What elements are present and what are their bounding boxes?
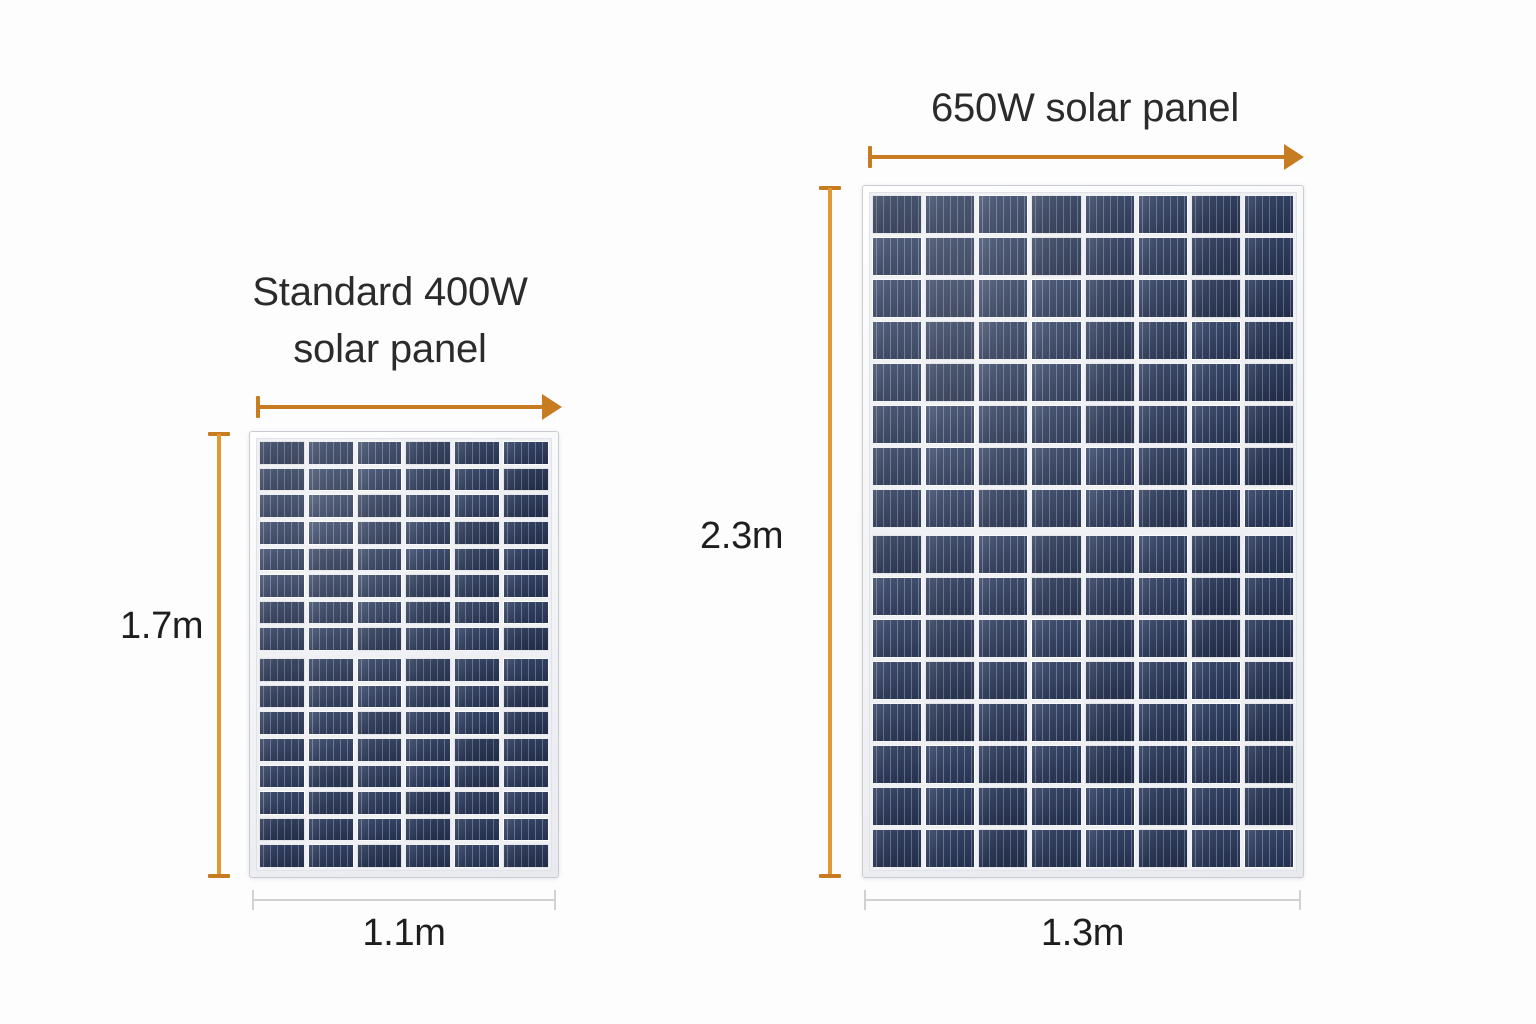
photovoltaic-cell <box>1244 661 1294 700</box>
photovoltaic-cell <box>357 711 403 735</box>
photovoltaic-cell <box>978 237 1028 276</box>
photovoltaic-cell <box>1138 195 1188 234</box>
photovoltaic-cell <box>259 548 305 572</box>
photovoltaic-cell <box>454 711 500 735</box>
photovoltaic-cell <box>1244 447 1294 486</box>
photovoltaic-cell <box>259 685 305 709</box>
photovoltaic-cell <box>454 601 500 625</box>
width-label-standard-400w: 1.1m <box>252 912 556 955</box>
photovoltaic-cell <box>925 321 975 360</box>
photovoltaic-cell <box>1031 321 1081 360</box>
photovoltaic-cell <box>1085 577 1135 616</box>
photovoltaic-cell <box>405 521 451 545</box>
photovoltaic-cell <box>1031 195 1081 234</box>
photovoltaic-cell <box>405 818 451 842</box>
photovoltaic-cell <box>1244 577 1294 616</box>
photovoltaic-cell <box>454 791 500 815</box>
photovoltaic-cell <box>454 468 500 492</box>
photovoltaic-cell <box>1138 787 1188 826</box>
photovoltaic-cell <box>1031 745 1081 784</box>
photovoltaic-cell <box>978 745 1028 784</box>
solar-panel-650w <box>862 185 1304 878</box>
photovoltaic-cell <box>872 363 922 402</box>
photovoltaic-cell <box>1031 363 1081 402</box>
photovoltaic-cell <box>925 279 975 318</box>
photovoltaic-cell <box>405 601 451 625</box>
photovoltaic-cell <box>1191 279 1241 318</box>
height-label-650w: 2.3m <box>700 515 783 558</box>
photovoltaic-cell <box>872 195 922 234</box>
photovoltaic-cell <box>308 494 354 518</box>
photovoltaic-cell <box>872 321 922 360</box>
photovoltaic-cell <box>872 787 922 826</box>
photovoltaic-cell <box>925 703 975 742</box>
photovoltaic-cell <box>405 765 451 789</box>
photovoltaic-cell <box>259 738 305 762</box>
photovoltaic-cell <box>503 738 549 762</box>
photovoltaic-cell <box>978 787 1028 826</box>
photovoltaic-cell <box>503 441 549 465</box>
photovoltaic-cell <box>357 601 403 625</box>
photovoltaic-cell <box>308 844 354 868</box>
photovoltaic-cell <box>1138 489 1188 528</box>
photovoltaic-cell <box>1244 489 1294 528</box>
height-label-standard-400w: 1.7m <box>120 605 203 648</box>
photovoltaic-cell <box>308 521 354 545</box>
photovoltaic-cell <box>259 791 305 815</box>
photovoltaic-cell <box>872 279 922 318</box>
photovoltaic-cell <box>308 627 354 651</box>
photovoltaic-cell <box>357 494 403 518</box>
photovoltaic-cell <box>357 791 403 815</box>
photovoltaic-cell <box>872 745 922 784</box>
photovoltaic-cell <box>357 627 403 651</box>
photovoltaic-cell <box>978 535 1028 574</box>
photovoltaic-cell <box>405 844 451 868</box>
photovoltaic-cell <box>1191 745 1241 784</box>
photovoltaic-cell <box>1191 661 1241 700</box>
photovoltaic-cell <box>925 195 975 234</box>
photovoltaic-cell <box>1244 619 1294 658</box>
photovoltaic-cell <box>1191 447 1241 486</box>
photovoltaic-cell <box>259 574 305 598</box>
photovoltaic-cell <box>1031 405 1081 444</box>
photovoltaic-cell <box>925 489 975 528</box>
photovoltaic-cell <box>1191 363 1241 402</box>
photovoltaic-cell <box>1191 787 1241 826</box>
photovoltaic-cell <box>1244 829 1294 868</box>
photovoltaic-cell <box>1191 405 1241 444</box>
photovoltaic-cell <box>308 711 354 735</box>
photovoltaic-cell <box>405 574 451 598</box>
photovoltaic-cell <box>1085 703 1135 742</box>
photovoltaic-cell <box>1191 829 1241 868</box>
height-rule-650w-icon <box>817 186 843 878</box>
photovoltaic-cell <box>503 658 549 682</box>
photovoltaic-cell <box>308 818 354 842</box>
photovoltaic-cell <box>978 619 1028 658</box>
photovoltaic-cell <box>1138 363 1188 402</box>
photovoltaic-cell <box>357 521 403 545</box>
width-label-650w: 1.3m <box>864 912 1301 955</box>
width-rule-standard-400w-icon <box>252 890 556 910</box>
photovoltaic-cell <box>1085 321 1135 360</box>
photovoltaic-cell <box>405 627 451 651</box>
arrow-shaft <box>868 155 1286 159</box>
photovoltaic-cell <box>978 577 1028 616</box>
photovoltaic-cell <box>872 447 922 486</box>
photovoltaic-cell <box>978 829 1028 868</box>
photovoltaic-cell <box>454 521 500 545</box>
width-rule-cap-right <box>554 890 556 910</box>
photovoltaic-cell <box>1031 489 1081 528</box>
photovoltaic-cell <box>503 844 549 868</box>
photovoltaic-cell <box>259 765 305 789</box>
photovoltaic-cell <box>503 601 549 625</box>
photovoltaic-cell <box>1138 405 1188 444</box>
photovoltaic-cell <box>925 661 975 700</box>
cell-group-bottom <box>257 656 551 870</box>
photovoltaic-cell <box>925 787 975 826</box>
photovoltaic-cell <box>872 237 922 276</box>
photovoltaic-cell <box>872 489 922 528</box>
photovoltaic-cell <box>1191 489 1241 528</box>
photovoltaic-cell <box>405 738 451 762</box>
photovoltaic-cell <box>454 441 500 465</box>
solar-panel-standard-400w <box>249 431 559 878</box>
photovoltaic-cell <box>308 441 354 465</box>
photovoltaic-cell <box>454 627 500 651</box>
photovoltaic-cell <box>308 548 354 572</box>
photovoltaic-cell <box>308 738 354 762</box>
photovoltaic-cell <box>1085 279 1135 318</box>
photovoltaic-cell <box>259 521 305 545</box>
photovoltaic-cell <box>308 574 354 598</box>
photovoltaic-cell <box>978 363 1028 402</box>
photovoltaic-cell <box>1031 535 1081 574</box>
photovoltaic-cell <box>357 818 403 842</box>
photovoltaic-cell <box>978 447 1028 486</box>
photovoltaic-cell <box>1244 535 1294 574</box>
width-arrow-650w-icon <box>868 144 1306 170</box>
photovoltaic-cell <box>1244 745 1294 784</box>
photovoltaic-cell <box>1244 703 1294 742</box>
panel-title-650w: 650W solar panel <box>840 80 1330 137</box>
photovoltaic-cell <box>872 829 922 868</box>
photovoltaic-cell <box>503 494 549 518</box>
height-rule-standard-400w-icon <box>206 432 232 878</box>
photovoltaic-cell <box>925 535 975 574</box>
photovoltaic-cell <box>454 494 500 518</box>
photovoltaic-cell <box>308 601 354 625</box>
photovoltaic-cell <box>259 844 305 868</box>
photovoltaic-cell <box>1244 363 1294 402</box>
photovoltaic-cell <box>1138 829 1188 868</box>
photovoltaic-cell <box>925 745 975 784</box>
photovoltaic-cell <box>925 447 975 486</box>
photovoltaic-cell <box>454 818 500 842</box>
photovoltaic-cell <box>259 494 305 518</box>
photovoltaic-cell <box>1191 535 1241 574</box>
photovoltaic-cell <box>1031 661 1081 700</box>
photovoltaic-cell <box>1085 363 1135 402</box>
photovoltaic-cell <box>1244 279 1294 318</box>
photovoltaic-cell <box>1031 279 1081 318</box>
photovoltaic-cell <box>925 577 975 616</box>
photovoltaic-cell <box>1085 661 1135 700</box>
height-rule-shaft <box>217 434 221 876</box>
photovoltaic-cell <box>454 844 500 868</box>
cell-group-top <box>870 193 1296 530</box>
photovoltaic-cell <box>259 711 305 735</box>
photovoltaic-cell <box>1244 195 1294 234</box>
photovoltaic-cell <box>1031 577 1081 616</box>
photovoltaic-cell <box>405 494 451 518</box>
photovoltaic-cell <box>1031 447 1081 486</box>
photovoltaic-cell <box>503 574 549 598</box>
photovoltaic-cell <box>405 685 451 709</box>
photovoltaic-cell <box>925 237 975 276</box>
photovoltaic-cell <box>405 441 451 465</box>
photovoltaic-cell <box>1244 787 1294 826</box>
photovoltaic-cell <box>1031 787 1081 826</box>
photovoltaic-cell <box>872 703 922 742</box>
photovoltaic-cell <box>503 548 549 572</box>
photovoltaic-cell <box>925 405 975 444</box>
photovoltaic-cell <box>1138 535 1188 574</box>
arrow-head-icon <box>542 394 562 420</box>
photovoltaic-cell <box>405 468 451 492</box>
photovoltaic-cell <box>1085 619 1135 658</box>
photovoltaic-cell <box>259 818 305 842</box>
photovoltaic-cell <box>454 658 500 682</box>
photovoltaic-cell <box>1138 577 1188 616</box>
panel-title-standard-400w: Standard 400W solar panel <box>180 264 600 378</box>
photovoltaic-cell <box>1191 577 1241 616</box>
photovoltaic-cell <box>1031 237 1081 276</box>
photovoltaic-cell <box>1191 619 1241 658</box>
height-rule-shaft <box>828 188 832 876</box>
photovoltaic-cell <box>872 535 922 574</box>
photovoltaic-cell <box>978 195 1028 234</box>
photovoltaic-cell <box>1138 447 1188 486</box>
photovoltaic-cell <box>503 468 549 492</box>
width-rule-shaft <box>252 899 556 901</box>
arrow-shaft <box>256 405 544 409</box>
photovoltaic-cell <box>308 468 354 492</box>
photovoltaic-cell <box>357 685 403 709</box>
photovoltaic-cell <box>1191 195 1241 234</box>
photovoltaic-cell <box>978 661 1028 700</box>
photovoltaic-cell <box>357 738 403 762</box>
photovoltaic-cell <box>1138 661 1188 700</box>
photovoltaic-cell <box>1085 787 1135 826</box>
height-rule-cap-bottom <box>819 874 841 878</box>
photovoltaic-cell <box>1031 619 1081 658</box>
photovoltaic-cell <box>308 765 354 789</box>
photovoltaic-cell <box>357 658 403 682</box>
photovoltaic-cell <box>357 844 403 868</box>
photovoltaic-cell <box>1085 237 1135 276</box>
width-rule-cap-right <box>1299 890 1301 910</box>
photovoltaic-cell <box>503 765 549 789</box>
photovoltaic-cell <box>454 548 500 572</box>
photovoltaic-cell <box>357 468 403 492</box>
photovoltaic-cell <box>925 619 975 658</box>
photovoltaic-cell <box>1138 619 1188 658</box>
photovoltaic-cell <box>978 279 1028 318</box>
photovoltaic-cell <box>978 703 1028 742</box>
photovoltaic-cell <box>259 468 305 492</box>
photovoltaic-cell <box>503 791 549 815</box>
photovoltaic-cell <box>925 829 975 868</box>
photovoltaic-cell <box>1138 237 1188 276</box>
photovoltaic-cell <box>1244 321 1294 360</box>
photovoltaic-cell <box>357 765 403 789</box>
panel-cell-array-650w <box>869 192 1297 871</box>
photovoltaic-cell <box>1085 447 1135 486</box>
cell-group-top <box>257 439 551 653</box>
photovoltaic-cell <box>308 791 354 815</box>
photovoltaic-cell <box>1244 405 1294 444</box>
panel-cell-array-standard-400w <box>256 438 552 871</box>
photovoltaic-cell <box>872 577 922 616</box>
height-rule-cap-bottom <box>208 874 230 878</box>
photovoltaic-cell <box>357 441 403 465</box>
photovoltaic-cell <box>454 738 500 762</box>
photovoltaic-cell <box>1138 279 1188 318</box>
photovoltaic-cell <box>925 363 975 402</box>
width-arrow-standard-400w-icon <box>256 394 562 420</box>
photovoltaic-cell <box>1138 321 1188 360</box>
width-rule-650w-icon <box>864 890 1301 910</box>
photovoltaic-cell <box>503 818 549 842</box>
photovoltaic-cell <box>1191 321 1241 360</box>
photovoltaic-cell <box>503 627 549 651</box>
photovoltaic-cell <box>405 548 451 572</box>
photovoltaic-cell <box>503 685 549 709</box>
photovoltaic-cell <box>1085 405 1135 444</box>
photovoltaic-cell <box>1031 703 1081 742</box>
photovoltaic-cell <box>259 627 305 651</box>
photovoltaic-cell <box>454 574 500 598</box>
photovoltaic-cell <box>1031 829 1081 868</box>
comparison-diagram-canvas: Standard 400W solar panel 1.7m 1.1m 650W… <box>0 0 1536 1024</box>
photovoltaic-cell <box>357 574 403 598</box>
photovoltaic-cell <box>454 685 500 709</box>
photovoltaic-cell <box>259 601 305 625</box>
photovoltaic-cell <box>503 711 549 735</box>
photovoltaic-cell <box>259 658 305 682</box>
photovoltaic-cell <box>405 791 451 815</box>
width-rule-shaft <box>864 899 1301 901</box>
photovoltaic-cell <box>1085 829 1135 868</box>
photovoltaic-cell <box>259 441 305 465</box>
photovoltaic-cell <box>405 658 451 682</box>
photovoltaic-cell <box>1191 237 1241 276</box>
arrow-head-icon <box>1284 144 1304 170</box>
photovoltaic-cell <box>308 685 354 709</box>
photovoltaic-cell <box>1244 237 1294 276</box>
photovoltaic-cell <box>1138 703 1188 742</box>
photovoltaic-cell <box>978 321 1028 360</box>
photovoltaic-cell <box>1138 745 1188 784</box>
photovoltaic-cell <box>1085 489 1135 528</box>
photovoltaic-cell <box>308 658 354 682</box>
photovoltaic-cell <box>872 619 922 658</box>
photovoltaic-cell <box>405 711 451 735</box>
photovoltaic-cell <box>454 765 500 789</box>
photovoltaic-cell <box>503 521 549 545</box>
photovoltaic-cell <box>978 405 1028 444</box>
photovoltaic-cell <box>872 661 922 700</box>
photovoltaic-cell <box>1191 703 1241 742</box>
cell-group-bottom <box>870 533 1296 870</box>
photovoltaic-cell <box>872 405 922 444</box>
photovoltaic-cell <box>1085 535 1135 574</box>
photovoltaic-cell <box>978 489 1028 528</box>
photovoltaic-cell <box>1085 745 1135 784</box>
photovoltaic-cell <box>1085 195 1135 234</box>
photovoltaic-cell <box>357 548 403 572</box>
